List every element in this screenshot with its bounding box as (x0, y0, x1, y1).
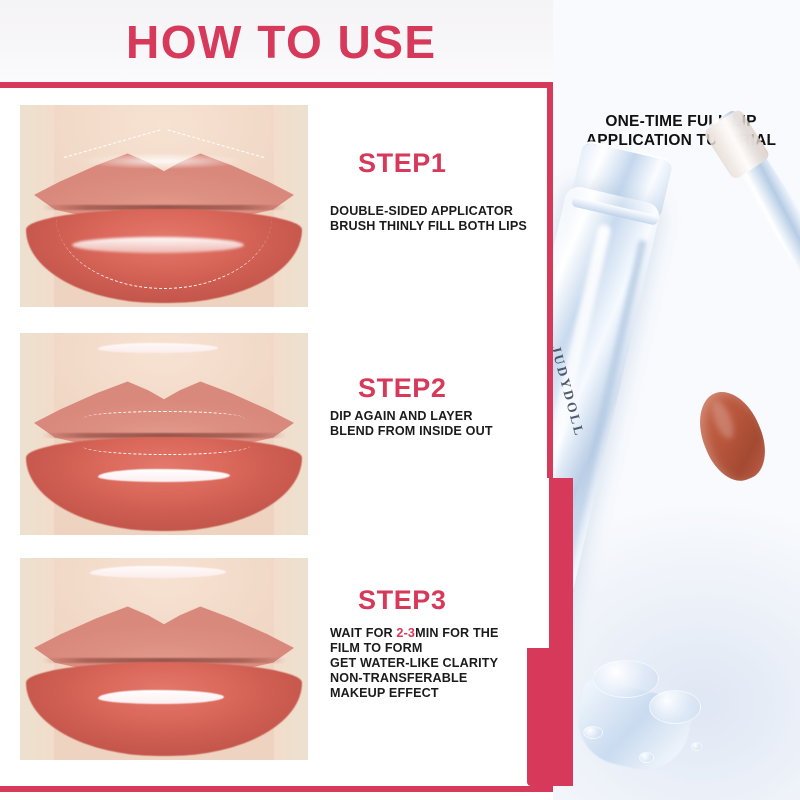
step-body-2-line2: BLEND FROM INSIDE OUT (330, 424, 548, 439)
upper-lip-sheen (82, 153, 242, 169)
step-body-2-line1: DIP AGAIN AND LAYER (330, 409, 548, 424)
product-photo-pane: ONE-TIME FULL LIP APPLICATION TUTORIAL J… (553, 0, 800, 800)
step-body-3-line3: GET WATER-LIKE CLARITY (330, 656, 548, 671)
gel-droplet (649, 690, 701, 724)
step-body-1: DOUBLE-SIDED APPLICATOR BRUSH THINLY FIL… (330, 204, 548, 234)
infographic-page: HOW TO USE ONE-TIME FULL LIP APPLICATION… (0, 0, 800, 800)
step-title-3: STEP3 (358, 585, 447, 616)
step-photo-2 (20, 333, 308, 535)
frame-border-bottom (0, 786, 553, 792)
guide-dash-inner-upper (84, 411, 244, 425)
wait-time-highlight: 2-3 (396, 626, 415, 640)
step-title-1: STEP1 (358, 148, 447, 179)
step-body-3-suffix: MIN FOR THE (415, 626, 499, 640)
step-body-3: WAIT FOR 2-3MIN FOR THE FILM TO FORM GET… (330, 626, 548, 701)
page-title: HOW TO USE (126, 14, 437, 70)
step-body-3-line1: WAIT FOR 2-3MIN FOR THE (330, 626, 548, 641)
step-body-3-prefix: WAIT FOR (330, 626, 396, 640)
upper-lip-gloss-streak (90, 566, 226, 578)
frame-accent-notch (527, 478, 549, 648)
tutorial-headline-line1: ONE-TIME FULL LIP (562, 112, 800, 131)
step-title-2: STEP2 (358, 373, 447, 404)
gel-droplet (691, 742, 702, 751)
step-body-3-line5: MAKEUP EFFECT (330, 686, 548, 701)
step-photo-3 (20, 558, 308, 760)
step-body-3-line2: FILM TO FORM (330, 641, 548, 656)
guide-dash-inner-lower (82, 437, 250, 455)
frame-border-top (0, 82, 553, 88)
gel-droplet (593, 660, 659, 698)
lower-lip-gloss-streak (98, 690, 224, 704)
step-body-2: DIP AGAIN AND LAYER BLEND FROM INSIDE OU… (330, 409, 548, 439)
step-photo-1 (20, 105, 308, 307)
step-body-1-line1: DOUBLE-SIDED APPLICATOR (330, 204, 548, 219)
lower-lip-gloss-streak (98, 469, 230, 482)
gel-droplet (639, 752, 654, 763)
upper-lip-gloss-streak (98, 343, 218, 353)
gel-droplet (583, 726, 603, 739)
step-body-1-line2: BRUSH THINLY FILL BOTH LIPS (330, 219, 548, 234)
step-body-3-line4: NON-TRANSFERABLE (330, 671, 548, 686)
